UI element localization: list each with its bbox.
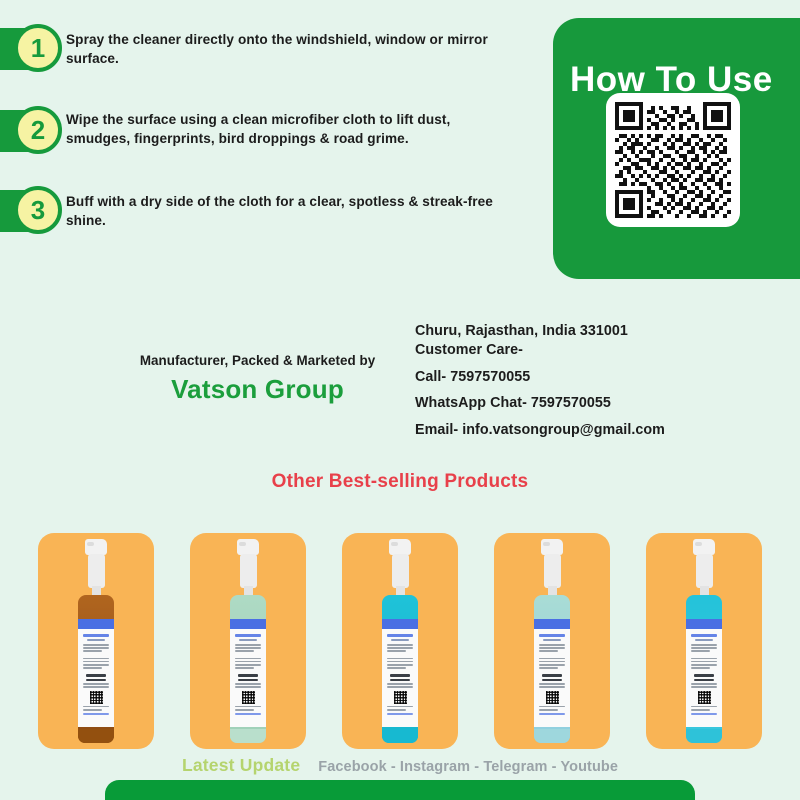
bottle-nozzle xyxy=(389,539,411,555)
bottle-label xyxy=(78,629,114,727)
contact-address: Churu, Rajasthan, India 331001 xyxy=(415,322,765,341)
product-grid xyxy=(0,533,800,749)
spray-bottle-icon xyxy=(683,539,725,743)
best-selling-heading: Other Best-selling Products xyxy=(0,471,800,493)
step-row: 1 Spray the cleaner directly onto the wi… xyxy=(0,24,540,78)
manufacturer-block: Manufacturer, Packed & Marketed by Vatso… xyxy=(120,352,395,405)
contact-block: Churu, Rajasthan, India 331001 Customer … xyxy=(415,322,765,440)
bottle-label xyxy=(534,629,570,727)
bottle-collar xyxy=(88,554,105,588)
step-text-3: Buff with a dry side of the cloth for a … xyxy=(62,186,512,231)
footer: Latest Update Facebook - Instagram - Tel… xyxy=(0,755,800,776)
bottle-label xyxy=(686,629,722,727)
step-text-2: Wipe the surface using a clean microfibe… xyxy=(62,106,512,149)
product-card[interactable] xyxy=(342,533,458,749)
bottle-collar xyxy=(392,554,409,588)
qr-code-icon[interactable] xyxy=(606,93,740,227)
step-text-1: Spray the cleaner directly onto the wind… xyxy=(62,24,512,69)
step-badge: 3 xyxy=(0,186,62,236)
spray-bottle-icon xyxy=(531,539,573,743)
spray-bottle-icon xyxy=(379,539,421,743)
bottle-base xyxy=(230,729,266,743)
step-number-2: 2 xyxy=(14,106,62,154)
bottom-green-bar xyxy=(105,780,695,800)
how-to-use-title: How To Use xyxy=(553,18,800,97)
step-number-3: 3 xyxy=(14,186,62,234)
step-number-1: 1 xyxy=(14,24,62,72)
bottle-label xyxy=(382,629,418,727)
bottle-body xyxy=(78,595,114,743)
how-to-use-steps: 1 Spray the cleaner directly onto the wi… xyxy=(0,24,540,262)
product-card[interactable] xyxy=(38,533,154,749)
contact-phone[interactable]: Call- 7597570055 xyxy=(415,368,765,387)
bottle-collar xyxy=(696,554,713,588)
contact-whatsapp[interactable]: WhatsApp Chat- 7597570055 xyxy=(415,394,765,413)
bottle-body xyxy=(230,595,266,743)
product-card[interactable] xyxy=(494,533,610,749)
bottle-nozzle xyxy=(541,539,563,555)
bottle-nozzle xyxy=(693,539,715,555)
step-row: 3 Buff with a dry side of the cloth for … xyxy=(0,186,540,240)
bottle-base xyxy=(78,729,114,743)
spray-bottle-icon xyxy=(75,539,117,743)
social-links[interactable]: Facebook - Instagram - Telegram - Youtub… xyxy=(318,759,618,775)
bottle-base xyxy=(686,729,722,743)
bottle-base xyxy=(534,729,570,743)
flyer-page: 1 Spray the cleaner directly onto the wi… xyxy=(0,0,800,800)
customer-care-label: Customer Care- xyxy=(415,341,765,360)
step-badge: 1 xyxy=(0,24,62,74)
bottle-body xyxy=(382,595,418,743)
brand-name: Vatson Group xyxy=(120,374,395,405)
spray-bottle-icon xyxy=(227,539,269,743)
step-row: 2 Wipe the surface using a clean microfi… xyxy=(0,106,540,160)
step-badge: 2 xyxy=(0,106,62,156)
bottle-nozzle xyxy=(85,539,107,555)
product-card[interactable] xyxy=(646,533,762,749)
bottle-collar xyxy=(544,554,561,588)
bottle-body xyxy=(534,595,570,743)
bottle-base xyxy=(382,729,418,743)
product-card[interactable] xyxy=(190,533,306,749)
latest-update-label: Latest Update xyxy=(182,755,300,776)
bottle-label xyxy=(230,629,266,727)
manufacturer-label: Manufacturer, Packed & Marketed by xyxy=(120,352,395,369)
bottle-nozzle xyxy=(237,539,259,555)
bottle-collar xyxy=(240,554,257,588)
bottle-body xyxy=(686,595,722,743)
contact-email[interactable]: Email- info.vatsongroup@gmail.com xyxy=(415,421,765,440)
